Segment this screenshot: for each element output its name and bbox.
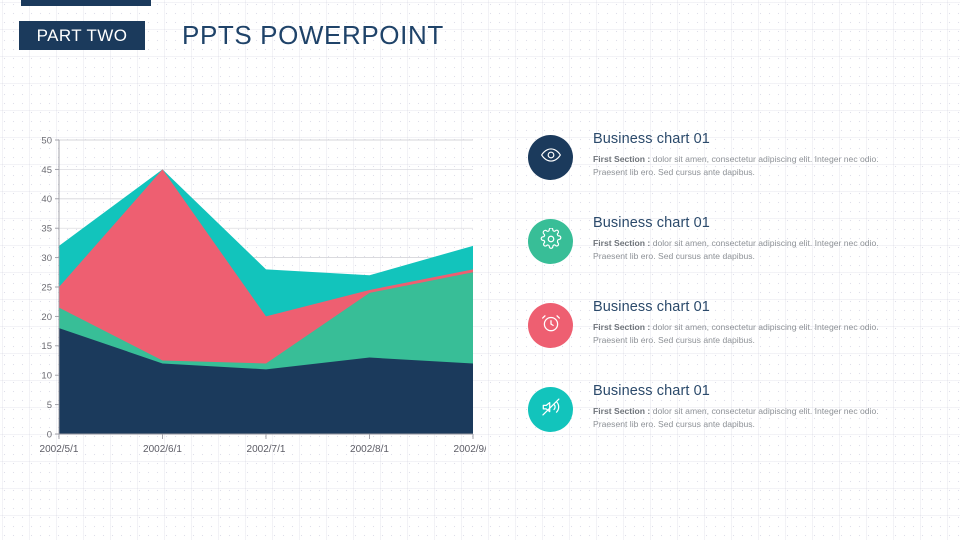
feature-text-4: Business chart 01 First Section : dolor … (593, 382, 893, 431)
slide-header: PART TWO PPTS POWERPOINT (0, 0, 960, 70)
svg-text:20: 20 (41, 312, 52, 323)
svg-text:10: 10 (41, 371, 52, 382)
svg-text:25: 25 (41, 282, 52, 293)
list-item[interactable]: Business chart 01 First Section : dolor … (528, 214, 928, 298)
svg-text:15: 15 (41, 341, 52, 352)
list-item[interactable]: Business chart 01 First Section : dolor … (528, 298, 928, 382)
chart-y-axis: 05101520253035404550 (41, 135, 59, 440)
feature-description: First Section : dolor sit amen, consecte… (593, 405, 893, 431)
feature-icon-circle-1 (528, 135, 573, 180)
feature-icon-circle-2 (528, 219, 573, 264)
svg-text:0: 0 (47, 429, 52, 440)
muted-speaker-icon (540, 396, 562, 423)
feature-description: First Section : dolor sit amen, consecte… (593, 321, 893, 347)
list-item[interactable]: Business chart 01 First Section : dolor … (528, 382, 928, 466)
svg-text:5: 5 (47, 400, 52, 411)
svg-text:2002/7/1: 2002/7/1 (247, 444, 286, 455)
svg-text:2002/5/1: 2002/5/1 (40, 444, 79, 455)
gear-icon (540, 228, 562, 255)
list-item[interactable]: Business chart 01 First Section : dolor … (528, 130, 928, 214)
svg-text:45: 45 (41, 165, 52, 176)
stacked-area-chart: 05101520253035404550 2002/5/12002/6/1200… (26, 128, 486, 468)
svg-text:35: 35 (41, 224, 52, 235)
part-badge: PART TWO (19, 21, 145, 50)
chart-areas (59, 169, 473, 434)
feature-description: First Section : dolor sit amen, consecte… (593, 237, 893, 263)
eye-icon (540, 144, 562, 171)
feature-text-2: Business chart 01 First Section : dolor … (593, 214, 893, 263)
chart-x-axis: 2002/5/12002/6/12002/7/12002/8/12002/9/1 (40, 434, 486, 455)
feature-lead: First Section : (593, 406, 650, 416)
feature-lead: First Section : (593, 154, 650, 164)
feature-title: Business chart 01 (593, 215, 893, 231)
svg-text:50: 50 (41, 135, 52, 146)
feature-text-3: Business chart 01 First Section : dolor … (593, 298, 893, 347)
feature-lead: First Section : (593, 238, 650, 248)
alarm-clock-icon (540, 312, 562, 339)
feature-list: Business chart 01 First Section : dolor … (528, 130, 928, 466)
feature-title: Business chart 01 (593, 131, 893, 147)
feature-icon-circle-3 (528, 303, 573, 348)
svg-text:2002/6/1: 2002/6/1 (143, 444, 182, 455)
svg-text:2002/9/1: 2002/9/1 (454, 444, 486, 455)
feature-description: First Section : dolor sit amen, consecte… (593, 153, 893, 179)
page-title: PPTS POWERPOINT (182, 20, 444, 51)
feature-icon-circle-4 (528, 387, 573, 432)
svg-text:30: 30 (41, 253, 52, 264)
svg-text:2002/8/1: 2002/8/1 (350, 444, 389, 455)
header-tab-stub (21, 0, 151, 6)
svg-text:40: 40 (41, 194, 52, 205)
feature-lead: First Section : (593, 322, 650, 332)
feature-title: Business chart 01 (593, 299, 893, 315)
feature-text-1: Business chart 01 First Section : dolor … (593, 130, 893, 179)
feature-title: Business chart 01 (593, 383, 893, 399)
chart-canvas: 05101520253035404550 2002/5/12002/6/1200… (26, 128, 486, 468)
